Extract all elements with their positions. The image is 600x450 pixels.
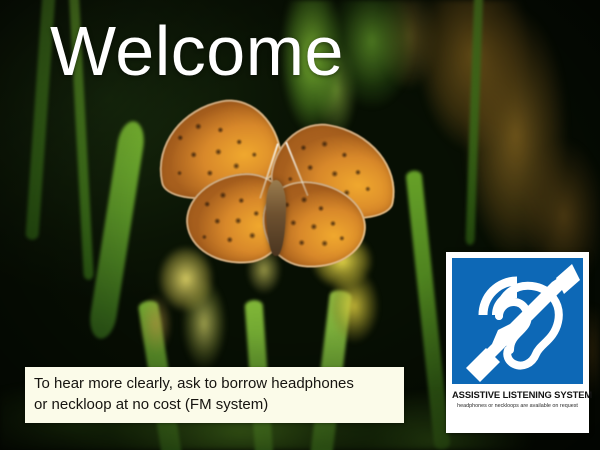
sign-subtitle: headphones or neckloops are available on… bbox=[452, 403, 583, 409]
assistive-listening-caption: To hear more clearly, ask to borrow head… bbox=[25, 367, 404, 423]
sign-title: ASSISTIVE LISTENING SYSTEM bbox=[452, 389, 583, 400]
deaf-ear-icon bbox=[452, 258, 583, 384]
caption-line-2: or neckloop at no cost (FM system) bbox=[34, 394, 396, 415]
assistive-listening-sign: ASSISTIVE LISTENING SYSTEM headphones or… bbox=[446, 252, 589, 433]
presentation-slide: Welcome To hear more clearly, ask to bor… bbox=[0, 0, 600, 450]
caption-line-1: To hear more clearly, ask to borrow head… bbox=[34, 373, 396, 394]
page-title: Welcome bbox=[50, 16, 344, 86]
